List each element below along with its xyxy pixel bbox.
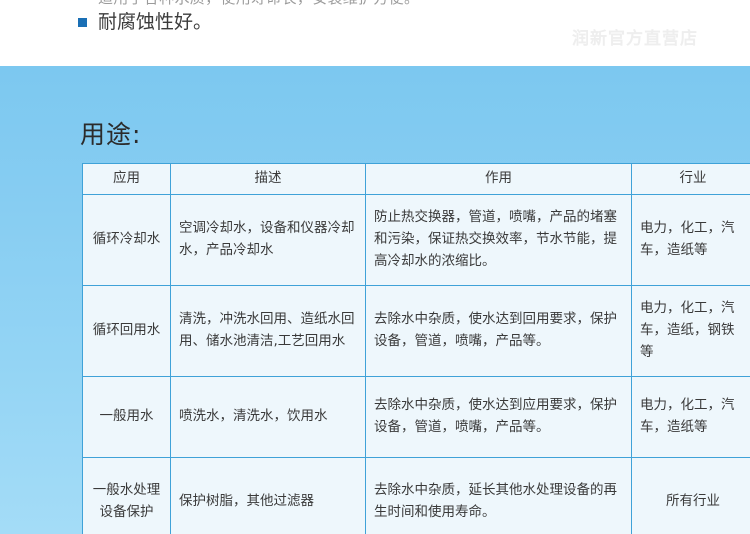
cell-industry: 所有行业: [632, 457, 750, 534]
cell-effect: 防止热交换器，管道，喷嘴，产品的堵塞和污染，保证热交换效率，节水节能，提高冷却水…: [366, 194, 632, 285]
square-bullet-icon: [78, 18, 87, 27]
cell-description: 清洗，冲洗水回用、造纸水回用、储水池清洁,工艺回用水: [171, 285, 366, 376]
store-watermark: 润新官方直营店: [572, 24, 698, 49]
cell-industry: 电力，化工，汽车，造纸等: [632, 194, 750, 285]
cell-application: 一般用水: [83, 376, 171, 457]
column-header-effect: 作用: [366, 164, 632, 195]
cell-industry: 电力，化工，汽车，造纸，钢铁等: [632, 285, 750, 376]
table-row: 循环回用水 清洗，冲洗水回用、造纸水回用、储水池清洁,工艺回用水 去除水中杂质，…: [83, 285, 750, 376]
usage-table-head: 应用 描述 作用 行业: [83, 164, 750, 195]
cell-effect: 去除水中杂质，使水达到应用要求，保护设备，管道，喷嘴，产品等。: [366, 376, 632, 457]
section-title-usage: 用途:: [80, 115, 141, 151]
cell-description: 喷洗水，清洗水，饮用水: [171, 376, 366, 457]
feature-list-band: 适用于各种水质，使用寿命长，安装维护方便。 耐腐蚀性好。 润新官方直营店: [0, 0, 750, 66]
usage-table-body: 循环冷却水 空调冷却水，设备和仪器冷却水，产品冷却水 防止热交换器，管道，喷嘴，…: [83, 194, 750, 534]
table-row: 一般水处理设备保护 保护树脂，其他过滤器 去除水中杂质，延长其他水处理设备的再生…: [83, 457, 750, 534]
feature-bullet-label: 耐腐蚀性好。: [98, 13, 212, 32]
table-row: 一般用水 喷洗水，清洗水，饮用水 去除水中杂质，使水达到应用要求，保护设备，管道…: [83, 376, 750, 457]
column-header-application: 应用: [83, 164, 171, 195]
product-detail-page: 适用于各种水质，使用寿命长，安装维护方便。 耐腐蚀性好。 润新官方直营店 用途:…: [0, 0, 750, 534]
cell-application: 一般水处理设备保护: [83, 457, 171, 534]
cell-description: 空调冷却水，设备和仪器冷却水，产品冷却水: [171, 194, 366, 285]
column-header-industry: 行业: [632, 164, 750, 195]
table-row: 循环冷却水 空调冷却水，设备和仪器冷却水，产品冷却水 防止热交换器，管道，喷嘴，…: [83, 194, 750, 285]
column-header-description: 描述: [171, 164, 366, 195]
cell-description: 保护树脂，其他过滤器: [171, 457, 366, 534]
clipped-feature-text: 适用于各种水质，使用寿命长，安装维护方便。: [98, 0, 419, 8]
cell-application: 循环冷却水: [83, 194, 171, 285]
cell-effect: 去除水中杂质，使水达到回用要求，保护设备，管道，喷嘴，产品等。: [366, 285, 632, 376]
usage-table: 应用 描述 作用 行业 循环冷却水 空调冷却水，设备和仪器冷却水，产品冷却水 防…: [82, 163, 750, 534]
cell-effect: 去除水中杂质，延长其他水处理设备的再生时间和使用寿命。: [366, 457, 632, 534]
feature-bullet-item: 耐腐蚀性好。: [78, 13, 212, 32]
cell-industry: 电力，化工，汽车，造纸等: [632, 376, 750, 457]
table-header-row: 应用 描述 作用 行业: [83, 164, 750, 195]
cell-application: 循环回用水: [83, 285, 171, 376]
